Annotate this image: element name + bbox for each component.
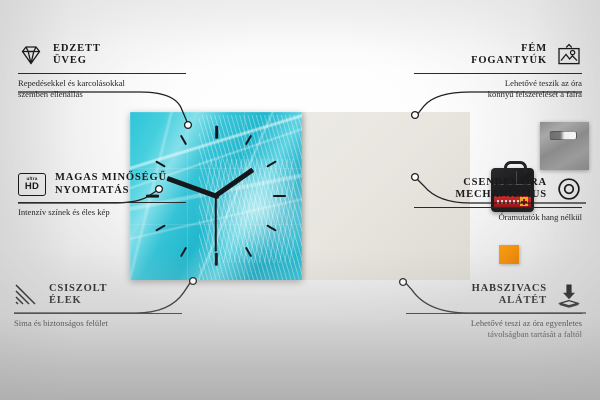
feature-header: CSENDES ÓRA MECHANIZMUS xyxy=(414,176,582,202)
feature-title-line1: EDZETT xyxy=(53,43,101,54)
feature-title-line1: MAGAS MINŐSÉGŰ xyxy=(55,172,167,183)
feature-title: EDZETT ÜVEG xyxy=(53,43,101,68)
feature-title: FÉM FOGANTYÚK xyxy=(471,43,547,68)
feature-title-line1: FÉM xyxy=(521,43,547,54)
feature-desc-line2: távolságban tartását a faltól xyxy=(488,329,582,339)
feature-divider xyxy=(414,73,582,74)
feature-title: CSISZOLT ÉLEK xyxy=(49,283,107,308)
feature-title-line2: ÉLEK xyxy=(49,295,82,306)
hanger-slot xyxy=(549,131,577,140)
feature-desc-line1: Lehetővé teszi az óra egyenletes xyxy=(471,318,582,328)
feature-desc-line1: Intenzív színek és éles kép xyxy=(18,207,110,217)
clock-tick xyxy=(215,253,218,266)
feature-description: Repedésekkel és karcolásokkal szemben el… xyxy=(18,78,186,99)
feature-callout-polished-edges: CSISZOLT ÉLEK Sima és biztonságos felüle… xyxy=(14,282,182,329)
ultra-hd-icon: ultra HD xyxy=(18,173,46,196)
foam-pad-icon xyxy=(556,282,582,308)
feature-title-line2: ALÁTÉT xyxy=(499,295,547,306)
feature-desc-line1: Sima és biztonságos felület xyxy=(14,318,108,328)
feature-divider xyxy=(414,207,582,208)
feature-header: ultra HD MAGAS MINŐSÉGŰ NYOMTATÁS xyxy=(18,172,186,197)
feature-description: Lehetővé teszi az óra egyenletes távolsá… xyxy=(406,318,582,339)
clock-tick xyxy=(273,195,286,198)
diamond-icon xyxy=(18,42,44,68)
feature-divider xyxy=(18,202,186,203)
feature-callout-silent-mechanism: CSENDES ÓRA MECHANIZMUS Óramutatók hang … xyxy=(414,176,582,223)
infographic-canvas: EDZETT ÜVEG Repedésekkel és karcolásokka… xyxy=(0,0,600,400)
feature-header: CSISZOLT ÉLEK xyxy=(14,282,182,308)
feature-desc-line2: szemben ellenállás xyxy=(18,89,83,99)
feature-callout-foam-pad: HABSZIVACS ALÁTÉT Lehetővé teszi az óra … xyxy=(406,282,582,339)
polished-edges-icon xyxy=(14,282,40,308)
feature-title-line2: ÜVEG xyxy=(53,55,87,66)
ultra-hd-icon-large-text: HD xyxy=(25,182,39,192)
feature-description: Sima és biztonságos felület xyxy=(14,318,182,329)
feature-desc-line1: Repedésekkel és karcolásokkal xyxy=(18,78,125,88)
feature-title-line2: MECHANIZMUS xyxy=(455,189,547,200)
feature-header: HABSZIVACS ALÁTÉT xyxy=(406,282,582,308)
clock-tick xyxy=(215,126,218,139)
feature-title-line1: CSENDES ÓRA xyxy=(463,177,547,188)
feature-divider xyxy=(14,313,182,314)
foam-pad xyxy=(499,245,519,264)
feature-header: EDZETT ÜVEG xyxy=(18,42,186,68)
feature-title-line2: NYOMTATÁS xyxy=(55,185,129,196)
feature-desc-line1: Óramutatók hang nélkül xyxy=(498,212,582,222)
feature-divider xyxy=(406,313,582,314)
gear-icon xyxy=(556,176,582,202)
feature-title-line2: FOGANTYÚK xyxy=(471,55,547,66)
feature-title-line1: CSISZOLT xyxy=(49,283,107,294)
feature-desc-line1: Lehetővé teszik az óra xyxy=(505,78,582,88)
clock-center-hub xyxy=(214,194,219,199)
feature-desc-line2: könnyű felszerelését a falra xyxy=(488,89,582,99)
feature-title: MAGAS MINŐSÉGŰ NYOMTATÁS xyxy=(55,172,167,197)
picture-hanger-icon xyxy=(556,42,582,68)
feature-title: HABSZIVACS ALÁTÉT xyxy=(472,283,547,308)
feature-callout-tempered-glass: EDZETT ÜVEG Repedésekkel és karcolásokka… xyxy=(18,42,186,99)
feature-header: FÉM FOGANTYÚK xyxy=(414,42,582,68)
metal-hanger-plate xyxy=(540,122,589,170)
feature-callout-high-quality-print: ultra HD MAGAS MINŐSÉGŰ NYOMTATÁS Intenz… xyxy=(18,172,186,218)
feature-divider xyxy=(18,73,186,74)
feature-title: CSENDES ÓRA MECHANIZMUS xyxy=(455,177,547,202)
feature-description: Lehetővé teszik az óra könnyű felszerelé… xyxy=(414,78,582,99)
feature-description: Óramutatók hang nélkül xyxy=(414,212,582,223)
feature-title-line1: HABSZIVACS xyxy=(472,283,547,294)
clock-second-hand xyxy=(215,196,217,252)
feature-callout-metal-handles: FÉM FOGANTYÚK Lehetővé teszik az óra kön… xyxy=(414,42,582,99)
feature-description: Intenzív színek és éles kép xyxy=(18,207,186,218)
